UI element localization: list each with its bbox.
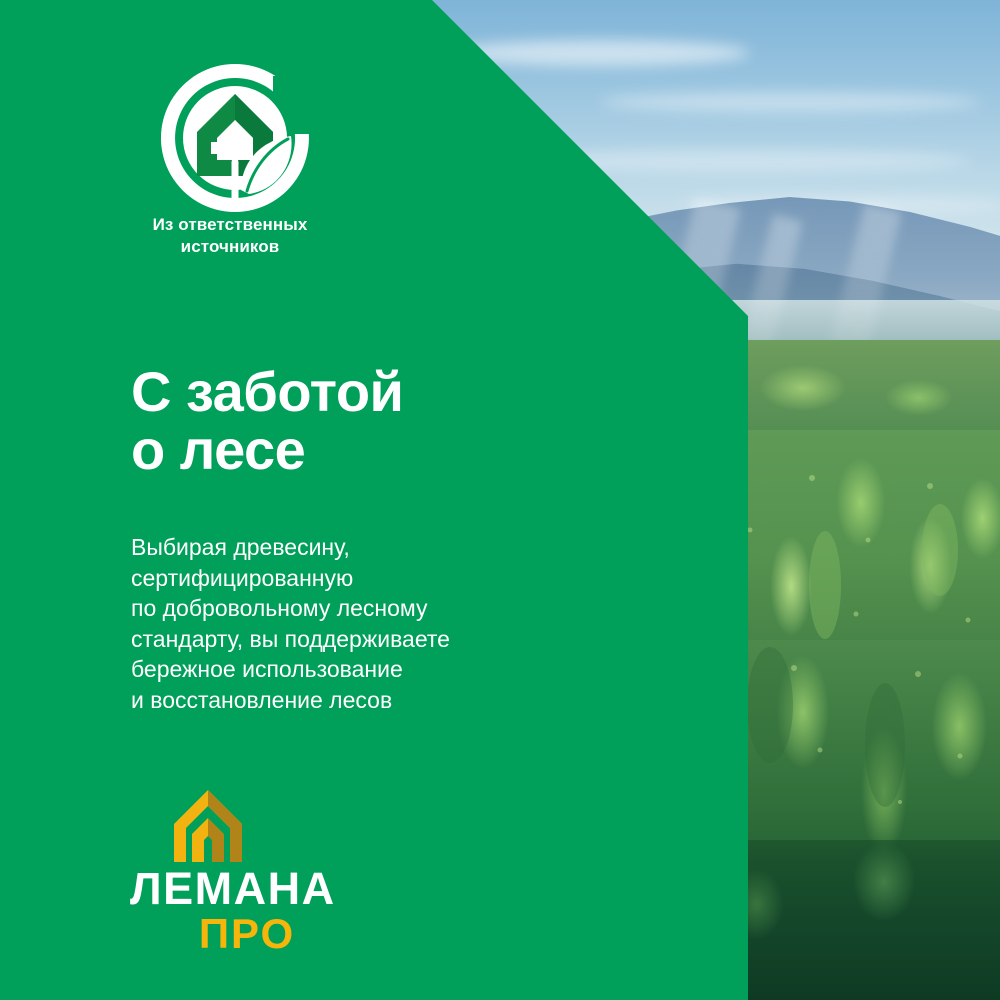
poster-root: Из ответственных источников С заботой о … xyxy=(0,0,1000,1000)
body-line-4: стандарту, вы поддерживаете xyxy=(131,624,601,655)
body-line-2: сертифицированную xyxy=(131,563,601,594)
page-title: С заботой о лесе xyxy=(131,363,651,479)
eco-house-leaf-circle-icon xyxy=(155,58,315,218)
brand-name: ЛЕМАНА xyxy=(130,866,360,911)
body-line-5: бережное использование xyxy=(131,654,601,685)
headline-line-1: С заботой xyxy=(131,360,403,423)
brand-suffix: ПРО xyxy=(154,913,340,955)
eco-badge-caption: Из ответственных источников xyxy=(110,214,350,258)
body-line-3: по добровольному лесному xyxy=(131,593,601,624)
body-line-1: Выбирая древесину, xyxy=(131,532,601,563)
eco-caption-line-1: Из ответственных xyxy=(110,214,350,236)
lemana-house-icon xyxy=(172,788,244,862)
headline-line-2: о лесе xyxy=(131,421,651,479)
brand-logo: ЛЕМАНА ПРО xyxy=(130,788,360,955)
eco-caption-line-2: источников xyxy=(110,236,350,258)
body-paragraph: Выбирая древесину, сертифицированную по … xyxy=(131,532,601,715)
body-line-6: и восстановление лесов xyxy=(131,685,601,716)
